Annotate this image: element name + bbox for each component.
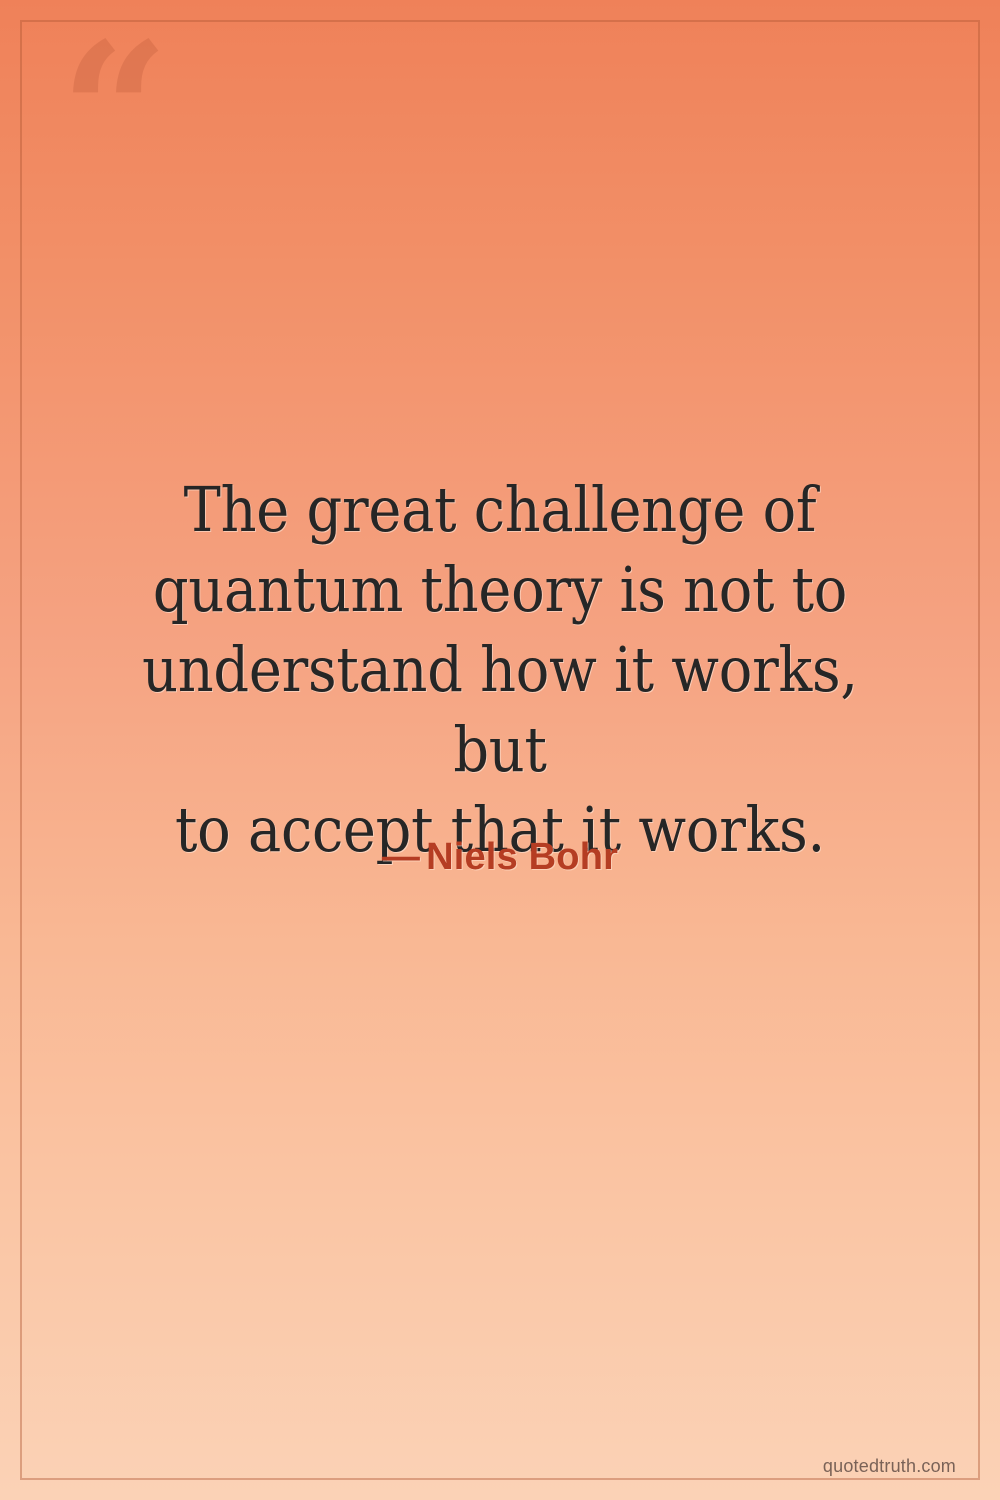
quote-attribution: —Niels Bohr	[0, 829, 1000, 885]
footer-watermark: quotedtruth.com	[823, 1452, 956, 1480]
attribution-dash: —	[382, 836, 420, 878]
attribution-author: Niels Bohr	[426, 836, 618, 878]
quote-card: “ The great challenge of quantum theory …	[0, 0, 1000, 1500]
quote-block: The great challenge of quantum theory is…	[0, 470, 1000, 870]
quote-text: The great challenge of quantum theory is…	[100, 470, 901, 870]
open-quotation-mark-icon: “	[60, 18, 169, 208]
